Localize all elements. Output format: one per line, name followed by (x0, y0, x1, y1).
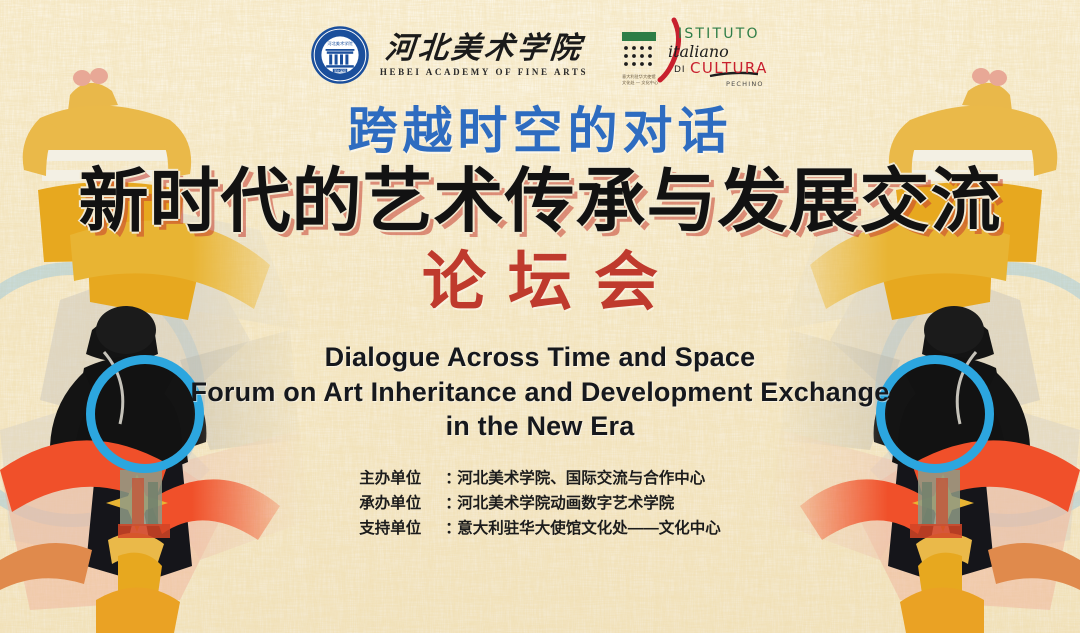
hebei-academy-seal-icon: 河北美院 河北美术学院 (310, 25, 370, 85)
hebei-academy-en-name: HEBEI ACADEMY OF FINE ARTS (380, 67, 588, 77)
credit-colon: ： (445, 491, 457, 516)
hebei-academy-logo: 河北美院 河北美术学院 河北美术学院 HEBEI ACADEMY OF FINE… (310, 25, 588, 85)
english-title-line-3: in the New Era (191, 409, 890, 444)
credit-value: 河北美术学院动画数字艺术学院 (457, 491, 674, 516)
svg-text:CULTURA: CULTURA (690, 59, 768, 77)
credit-row: 主办单位 ： 河北美术学院、国际交流与合作中心 (359, 466, 721, 491)
svg-text:ISTITUTO: ISTITUTO (678, 26, 760, 42)
credit-label: 主办单位 (359, 466, 445, 491)
credit-row: 承办单位 ： 河北美术学院动画数字艺术学院 (359, 491, 721, 516)
svg-text:意大利驻华大使馆: 意大利驻华大使馆 (622, 73, 656, 80)
hebei-academy-cn-name: 河北美术学院 (384, 33, 585, 65)
svg-text:河北美术学院: 河北美术学院 (327, 40, 353, 47)
credit-label: 承办单位 (359, 491, 445, 516)
credit-value: 河北美术学院、国际交流与合作中心 (457, 466, 705, 491)
logo-row: 河北美院 河北美术学院 河北美术学院 HEBEI ACADEMY OF FINE… (310, 16, 770, 94)
svg-text:DI: DI (674, 65, 686, 75)
credit-value: 意大利驻华大使馆文化处——文化中心 (457, 516, 721, 541)
credit-label: 支持单位 (359, 516, 445, 541)
istituto-italiano-di-cultura-logo: ISTITUTO italiano DI CULTURA PECHINO 意大利… (618, 16, 770, 94)
english-title-line-2: Forum on Art Inheritance and Development… (191, 375, 890, 410)
svg-text:文化处 — 文化中心: 文化处 — 文化中心 (622, 79, 659, 86)
svg-text:PECHINO: PECHINO (726, 80, 764, 88)
svg-text:河北美院: 河北美院 (334, 68, 346, 73)
english-title-block: Dialogue Across Time and Space Forum on … (191, 340, 890, 444)
title-line-blue: 跨越时空的对话 (348, 106, 733, 156)
english-title-line-1: Dialogue Across Time and Space (191, 340, 890, 375)
credit-colon: ： (445, 466, 457, 491)
event-poster: 河北美院 河北美术学院 河北美术学院 HEBEI ACADEMY OF FINE… (0, 0, 1080, 633)
organizer-credits: 主办单位 ： 河北美术学院、国际交流与合作中心 承办单位 ： 河北美术学院动画数… (359, 466, 721, 541)
title-line-black: 新时代的艺术传承与发展交流 (79, 166, 1002, 236)
title-line-red: 论坛会 (400, 250, 680, 314)
credit-row: 支持单位 ： 意大利驻华大使馆文化处——文化中心 (359, 516, 721, 541)
credit-colon: ： (445, 516, 457, 541)
